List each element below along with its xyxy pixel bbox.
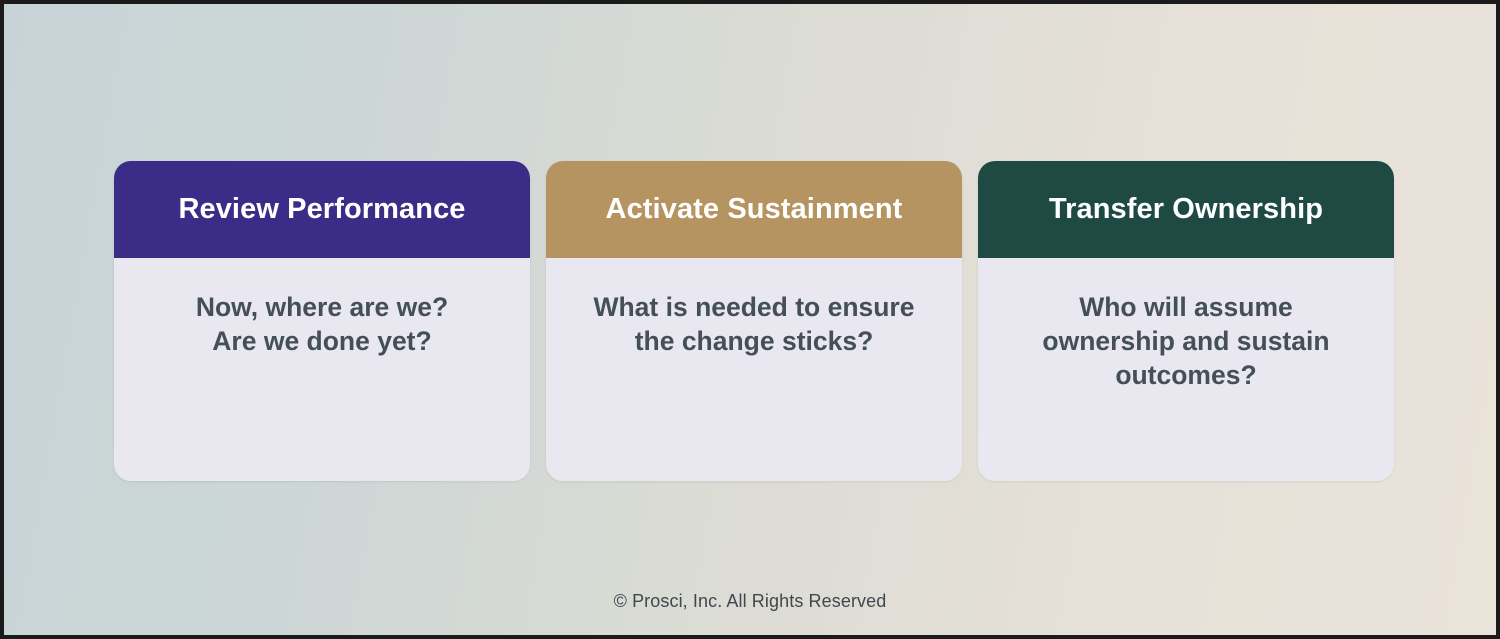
- card-title: Activate Sustainment: [606, 193, 903, 226]
- copyright-text: © Prosci, Inc. All Rights Reserved: [614, 591, 887, 612]
- card-header-activate-sustainment: Activate Sustainment: [546, 161, 962, 258]
- card-body-text: Who will assume ownership and sustain ou…: [1021, 291, 1351, 481]
- card-review-performance[interactable]: Review Performance Now, where are we? Ar…: [114, 161, 530, 481]
- card-transfer-ownership[interactable]: Transfer Ownership Who will assume owner…: [978, 161, 1394, 481]
- footer: © Prosci, Inc. All Rights Reserved: [4, 591, 1496, 612]
- card-body-activate-sustainment: What is needed to ensure the change stic…: [546, 258, 962, 481]
- card-header-transfer-ownership: Transfer Ownership: [978, 161, 1394, 258]
- card-body-text: What is needed to ensure the change stic…: [589, 291, 919, 481]
- card-header-review-performance: Review Performance: [114, 161, 530, 258]
- card-body-review-performance: Now, where are we? Are we done yet?: [114, 258, 530, 481]
- card-title: Transfer Ownership: [1049, 193, 1323, 226]
- card-title: Review Performance: [178, 193, 465, 226]
- slide-canvas: Review Performance Now, where are we? Ar…: [0, 0, 1500, 639]
- card-activate-sustainment[interactable]: Activate Sustainment What is needed to e…: [546, 161, 962, 481]
- card-body-transfer-ownership: Who will assume ownership and sustain ou…: [978, 258, 1394, 481]
- card-row: Review Performance Now, where are we? Ar…: [114, 161, 1394, 481]
- card-body-text: Now, where are we? Are we done yet?: [196, 291, 448, 481]
